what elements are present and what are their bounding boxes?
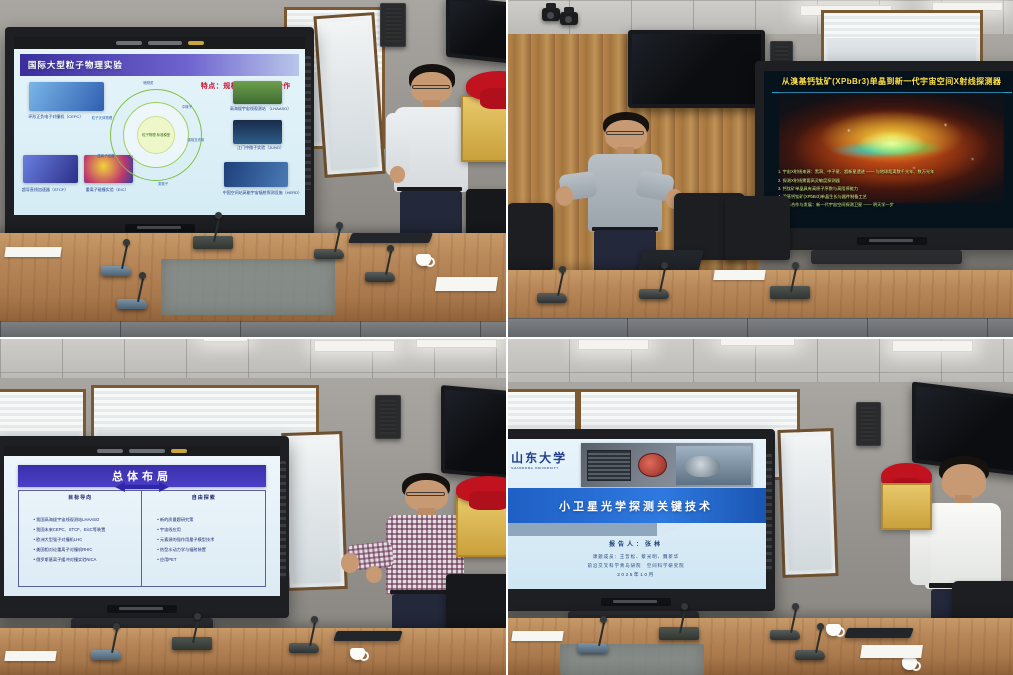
bullet-3: 4. 溴基钙钛矿(XPbBr3)单晶生长与器件制备工艺 [778, 193, 957, 201]
ceiling-camera-1 [542, 8, 560, 21]
slide-2-title: 从溴基钙钛矿(XPbBr3)单晶到新一代宇宙空间X射线探测器 [772, 76, 1012, 87]
bullet-0: 1. 宇宙X射线来源：黑洞、中子星、超新星遗迹 —— 与地球距离数千光年、数万光… [778, 168, 957, 176]
wall-speaker [856, 402, 881, 446]
microphone-left[interactable] [639, 287, 669, 299]
microphone-far-left[interactable] [537, 291, 567, 303]
microphone-unit[interactable] [659, 628, 689, 640]
presentation-toolbar[interactable] [4, 446, 280, 456]
column-header-free: 自由探索 [142, 494, 265, 501]
slide-3-body: 目标导向 我国高海拔宇宙线观测站LHAASO 我国未来CEPC、STCF、Eic… [18, 490, 266, 588]
office-chair-3 [507, 203, 553, 271]
paper-sheet [511, 631, 563, 641]
microphone-unit[interactable] [770, 287, 800, 299]
conference-table [0, 233, 507, 324]
wall-mounted-tv [441, 385, 507, 481]
free-item-3: 热型水动力学与辐射装置 [157, 545, 255, 555]
mutual-support-arrow-icon [115, 481, 169, 493]
free-item-4: 应用PET [157, 555, 255, 565]
microphone-blue-1[interactable] [101, 264, 131, 276]
organization-line: 前沿交叉科学青岛研院 空间科学研究院 [507, 561, 766, 570]
slide-international-particle-physics: 国际大型粒子物理实验 特点：规模巨大、国际合作 环形正负电子对撞机（CEPC） … [14, 49, 305, 214]
interactive-whiteboard[interactable]: 山东大学 SHANDONG UNIVERSITY 小卫星光学探测关键技术 报告人… [507, 429, 775, 611]
logo-subtext: SHANDONG UNIVERSITY [511, 466, 567, 470]
coffee-cup [416, 254, 431, 266]
bullet-4: 5. 国际合作与发展：新一代宇宙空间探测卫星 —— 明天学一步 [778, 201, 957, 209]
paper-sheet-2 [435, 277, 498, 291]
collage-panel-bottom-left[interactable]: 总体布局 目标导向 我国高海拔宇宙线观测站LHAASO 我国未来CEPC、STC… [0, 338, 507, 675]
goal-item-4: 俄罗斯基离子缓冲对撞实验NICA [34, 555, 132, 565]
ceiling-camera-2 [560, 12, 578, 25]
microphone-center[interactable] [770, 628, 800, 640]
goal-item-3: 美国相对论重离子对撞机RHIC [34, 545, 132, 555]
figure-collider-2 [23, 155, 78, 183]
coffee-cup-2 [902, 658, 917, 670]
ring-label-5: 粒子天体物理 [92, 115, 112, 120]
office-chair-2 [725, 196, 791, 260]
whiteboard-screen[interactable]: 国际大型粒子物理实验 特点：规模巨大、国际合作 环形正负电子对撞机（CEPC） … [14, 37, 305, 215]
award-plaque-easel [881, 483, 932, 530]
paper-sheet [714, 270, 766, 280]
figure-caption-4: 高海拔宇宙线观测站 （LHAASO） [225, 106, 297, 111]
figure-herd [224, 162, 288, 187]
microphone-right[interactable] [365, 270, 395, 282]
whiteboard-screen[interactable]: 总体布局 目标导向 我国高海拔宇宙线观测站LHAASO 我国未来CEPC、STC… [4, 446, 280, 596]
slide-3-column-goal: 目标导向 我国高海拔宇宙线观测站LHAASO 我国未来CEPC、STCF、Eic… [19, 491, 142, 587]
collage-panel-top-left[interactable]: 国际大型粒子物理实验 特点：规模巨大、国际合作 环形正负电子对撞机（CEPC） … [0, 0, 507, 338]
slide-perovskite-xray-detector: 从溴基钙钛矿(XPbBr3)单晶到新一代宇宙空间X射线探测器 1. 宇宙X射线来… [764, 71, 1013, 228]
date-line: 2025年10月 [507, 571, 766, 581]
microphone-unit[interactable] [193, 237, 223, 249]
figure-caption-3: 重离子碰撞实验（EIC） [78, 187, 136, 192]
window-open-sash [281, 431, 347, 591]
presenter-line: 报告人：张林 [507, 539, 766, 552]
ring-core-label: 粒子物理 标准模型 [142, 133, 170, 137]
plaque-text [468, 123, 470, 129]
whiteboard-screen[interactable]: 山东大学 SHANDONG UNIVERSITY 小卫星光学探测关键技术 报告人… [507, 439, 766, 589]
goal-item-2: 欧洲大型强子对撞机LHC [34, 535, 132, 545]
whiteboard-stand [811, 250, 963, 264]
slide-4-title: 小卫星光学探测关键技术 [559, 498, 713, 514]
free-item-0: 新的质量题研究策 [157, 515, 255, 525]
figure-caption-2: 超导直线加速器（STCF） [14, 187, 76, 192]
slide-small-satellite-optical-detection: 山东大学 SHANDONG UNIVERSITY 小卫星光学探测关键技术 报告人… [507, 439, 766, 589]
slide-4-title-band: 小卫星光学探测关键技术 [507, 488, 766, 522]
red-ribbon [456, 476, 507, 503]
slide-2-bullet-list: 1. 宇宙X射线来源：黑洞、中子星、超新星遗迹 —— 与地球距离数千光年、数万光… [778, 168, 957, 209]
presenter-label: 报告人： [609, 542, 645, 548]
photo-collage: 国际大型粒子物理实验 特点：规模巨大、国际合作 环形正负电子对撞机（CEPC） … [0, 0, 1013, 675]
interactive-whiteboard[interactable]: 总体布局 目标导向 我国高海拔宇宙线观测站LHAASO 我国未来CEPC、STC… [0, 436, 289, 618]
figure-collider-1 [29, 82, 105, 110]
slide-4-metadata: 报告人：张林 课题成员：王哲松、蔡光明、魏新华 前沿交叉科学青岛研院 空间科学研… [507, 539, 766, 580]
wall-speaker [375, 395, 400, 439]
figure-caption-5: 江门中微子实验（JUNO） [225, 145, 297, 150]
goal-item-0: 我国高海拔宇宙线观测站LHAASO [34, 515, 132, 525]
microphone-blue[interactable] [91, 648, 121, 660]
slide-1-title-band: 国际大型粒子物理实验 [20, 54, 300, 75]
figure-juno [233, 120, 283, 143]
whiteboard-screen[interactable]: 从溴基钙钛矿(XPbBr3)单晶到新一代宇宙空间X射线探测器 1. 宇宙X射线来… [764, 71, 1013, 228]
presenter-name: 张林 [645, 542, 663, 548]
paper-sheet-2 [860, 645, 923, 658]
interactive-whiteboard[interactable]: 从溴基钙钛矿(XPbBr3)单晶到新一代宇宙空间X射线探测器 1. 宇宙X射线来… [755, 61, 1013, 250]
microphone-front[interactable] [795, 648, 825, 660]
university-logo: 山东大学 SHANDONG UNIVERSITY [511, 446, 579, 470]
goal-item-1: 我国未来CEPC、STCF、EicC等装置 [34, 525, 132, 535]
bullet-1: 2. 探测X射线需要高灵敏度探测器 [778, 177, 957, 185]
presentation-toolbar[interactable] [14, 37, 305, 49]
ring-label-0: 暗物质 [143, 80, 153, 85]
slide-3-column-free: 自由探索 新的质量题研究策 宇宙线应用 元素源的强作用量子模型技术 热型水动力学… [141, 491, 265, 587]
microphone-left[interactable] [314, 247, 344, 259]
microphone-blue[interactable] [578, 641, 608, 653]
wall-mounted-tv [628, 30, 765, 108]
wall-mounted-tv [446, 0, 507, 65]
coffee-cup [350, 648, 365, 660]
standard-model-ring-diagram: 粒子物理 标准模型 暗物质 中微子 强相互作用 类核子 重离子碰撞 粒子天体物理 [110, 89, 202, 181]
slide-1-title: 国际大型粒子物理实验 [28, 59, 123, 71]
figure-caption-1: 环形正负电子对撞机（CEPC） [20, 114, 92, 119]
laptop[interactable] [348, 233, 433, 243]
ring-label-2: 强相互作用 [187, 137, 204, 142]
figure-lhaaso [233, 81, 283, 104]
conference-table [0, 628, 507, 675]
bullet-2: 3. 钙钛矿单晶具有高原子序数与高阻停能力 [778, 185, 957, 193]
laptop[interactable] [844, 628, 913, 638]
team-line: 课题成员：王哲松、蔡光明、魏新华 [507, 552, 766, 561]
ceiling-speaker [380, 3, 405, 47]
paper-sheet [4, 651, 56, 661]
coffee-cup [826, 624, 841, 636]
microphone-blue-2[interactable] [117, 297, 147, 309]
free-item-1: 宇宙线应用 [157, 525, 255, 535]
slide-overall-layout: 总体布局 目标导向 我国高海拔宇宙线观测站LHAASO 我国未来CEPC、STC… [4, 456, 280, 595]
figure-caption-6: 中国空间站高能宇宙辐射探测设施（HERD） [219, 190, 305, 195]
backpack [446, 574, 507, 635]
laptop[interactable] [333, 631, 403, 641]
interactive-whiteboard[interactable]: 国际大型粒子物理实验 特点：规模巨大、国际合作 环形正负电子对撞机（CEPC） … [5, 27, 314, 237]
ring-label-4: 重离子碰撞 [97, 153, 114, 158]
microphone-right[interactable] [289, 641, 319, 653]
ring-label-3: 类核子 [158, 181, 168, 186]
floor [0, 321, 507, 338]
ring-label-1: 中微子 [182, 104, 192, 109]
window-open-sash [778, 428, 839, 578]
collage-panel-bottom-right[interactable]: 山东大学 SHANDONG UNIVERSITY 小卫星光学探测关键技术 报告人… [507, 338, 1013, 675]
column-header-goal: 目标导向 [19, 494, 142, 501]
collage-separator-horizontal [0, 337, 1013, 339]
paper-sheet [4, 247, 61, 257]
logo-text: 山东大学 [511, 451, 567, 465]
collage-panel-top-right[interactable]: 从溴基钙钛矿(XPbBr3)单晶到新一代宇宙空间X射线探测器 1. 宇宙X射线来… [507, 0, 1013, 338]
floor [507, 318, 1013, 338]
microphone-unit[interactable] [172, 638, 202, 650]
header-photo-strip [581, 443, 753, 486]
plaque-text [463, 522, 465, 528]
free-item-2: 元素源的强作用量子模型技术 [157, 535, 255, 545]
